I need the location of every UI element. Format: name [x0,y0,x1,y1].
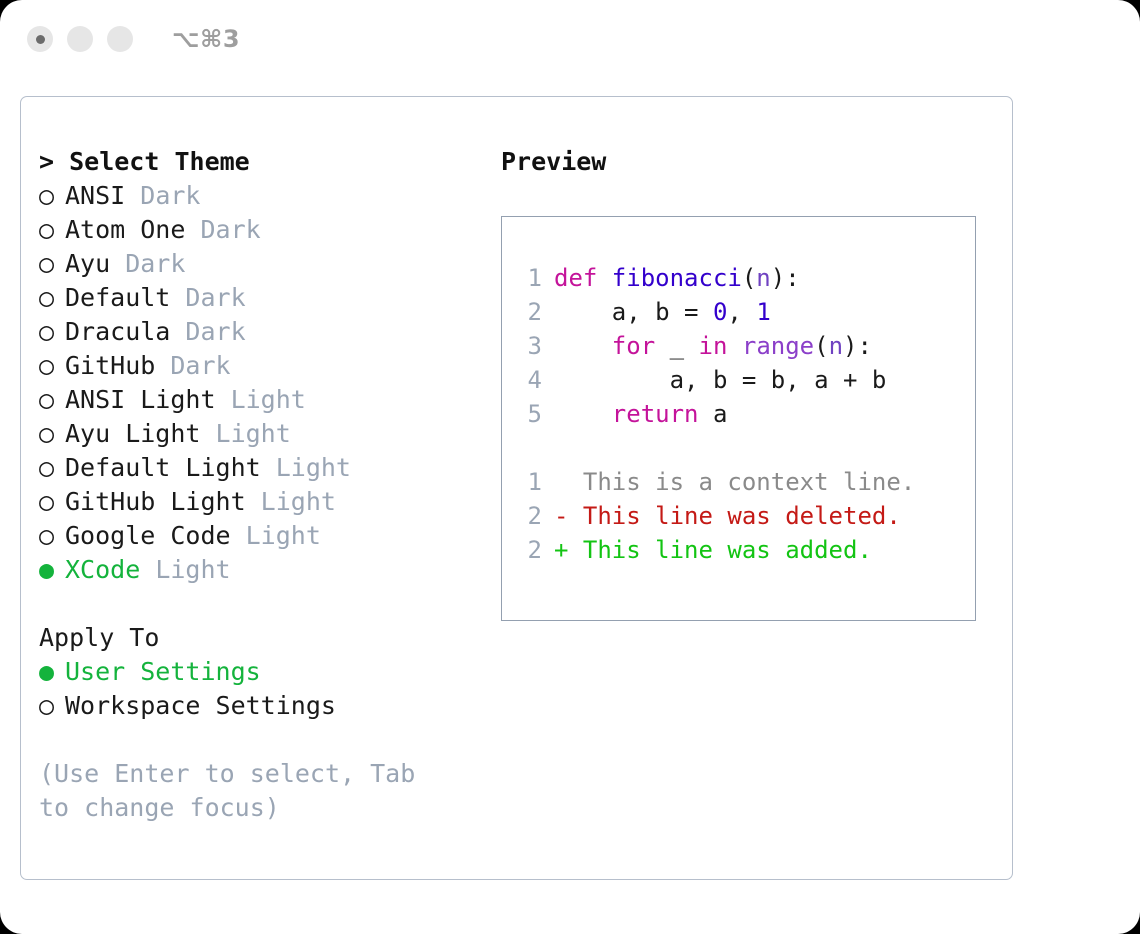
keyboard-hint-text: (Use Enter to select, Tab to change focu… [39,757,449,825]
code-diff-gap [520,431,975,465]
theme-variant-badge: Dark [155,351,230,380]
theme-option-ansi[interactable]: ○ANSI Dark [39,179,479,213]
window-dot-2[interactable] [67,26,93,52]
radio-unselected-icon: ○ [39,451,65,485]
diff-line: 2+ This line was added. [520,533,975,567]
code-token [554,332,612,360]
radio-selected-icon: ● [39,655,65,689]
diff-text: This line was added. [583,536,872,564]
window-dot-1[interactable] [27,26,53,52]
code-token: in [699,332,728,360]
apply-to-option-user-settings[interactable]: ●User Settings [39,655,479,689]
theme-variant-badge: Dark [170,317,245,346]
code-token: range [742,332,814,360]
code-token [727,332,741,360]
apply-to-option-label: User Settings [65,657,261,686]
main-panel: > Select Theme ○ANSI Dark○Atom One Dark○… [20,96,1013,880]
diff-text: This is a context line. [583,468,915,496]
select-theme-header: > Select Theme [39,145,479,179]
preview-column: Preview 1def fibonacci(n):2 a, b = 0, 13… [501,145,991,621]
theme-option-default[interactable]: ○Default Dark [39,281,479,315]
preview-box: 1def fibonacci(n):2 a, b = 0, 13 for _ i… [501,216,976,621]
code-token: _ [655,332,698,360]
code-line: 4 a, b = b, a + b [520,363,975,397]
line-number: 1 [520,261,542,295]
theme-variant-badge: Light [216,385,306,414]
code-token: return [612,400,699,428]
code-token: for [612,332,655,360]
diff-sign [554,468,583,496]
radio-unselected-icon: ○ [39,349,65,383]
theme-variant-badge: Light [231,521,321,550]
theme-list[interactable]: ○ANSI Dark○Atom One Dark○Ayu Dark○Defaul… [39,179,479,587]
code-token: fibonacci [612,264,742,292]
theme-option-ayu[interactable]: ○Ayu Dark [39,247,479,281]
theme-variant-badge: Light [246,487,336,516]
code-token: 0 [713,298,727,326]
theme-option-default-light[interactable]: ○Default Light Light [39,451,479,485]
theme-option-ansi-light[interactable]: ○ANSI Light Light [39,383,479,417]
line-number: 1 [520,465,542,499]
radio-unselected-icon: ○ [39,213,65,247]
radio-unselected-icon: ○ [39,281,65,315]
theme-variant-badge: Dark [170,283,245,312]
theme-option-label: ANSI Light [65,385,216,414]
diff-line: 1 This is a context line. [520,465,975,499]
code-token: def [554,264,612,292]
line-number: 3 [520,329,542,363]
theme-option-label: Default [65,283,170,312]
theme-option-label: Atom One [65,215,185,244]
code-line: 3 for _ in range(n): [520,329,975,363]
code-sample: 1def fibonacci(n):2 a, b = 0, 13 for _ i… [520,261,975,431]
apply-to-option-workspace-settings[interactable]: ○Workspace Settings [39,689,479,723]
theme-option-ayu-light[interactable]: ○Ayu Light Light [39,417,479,451]
line-number: 5 [520,397,542,431]
list-spacer [39,587,479,621]
diff-sign: + [554,536,583,564]
preview-title: Preview [501,145,991,179]
code-token: a, b = [554,298,713,326]
radio-unselected-icon: ○ [39,247,65,281]
theme-option-github[interactable]: ○GitHub Dark [39,349,479,383]
panel-columns: > Select Theme ○ANSI Dark○Atom One Dark○… [21,97,1012,879]
apply-to-option-label: Workspace Settings [65,691,336,720]
radio-unselected-icon: ○ [39,519,65,553]
title-bar: ⌥⌘3 [0,0,1140,78]
theme-selection-column: > Select Theme ○ANSI Dark○Atom One Dark○… [39,145,479,825]
theme-option-label: ANSI [65,181,125,210]
theme-variant-badge: Light [261,453,351,482]
theme-option-label: Dracula [65,317,170,346]
theme-variant-badge: Light [200,419,290,448]
theme-option-github-light[interactable]: ○GitHub Light Light [39,485,479,519]
app-window: ⌥⌘3 > Select Theme ○ANSI Dark○Atom One D… [0,0,1140,934]
code-token: ): [843,332,872,360]
code-line: 2 a, b = 0, 1 [520,295,975,329]
code-token: , [727,298,756,326]
radio-unselected-icon: ○ [39,485,65,519]
line-number: 2 [520,499,542,533]
radio-unselected-icon: ○ [39,315,65,349]
theme-variant-badge: Dark [125,181,200,210]
theme-variant-badge: Light [140,555,230,584]
code-token: a, b = b, a + b [554,366,886,394]
theme-option-google-code[interactable]: ○Google Code Light [39,519,479,553]
theme-option-label: XCode [65,555,140,584]
theme-option-dracula[interactable]: ○Dracula Dark [39,315,479,349]
theme-variant-badge: Dark [185,215,260,244]
line-number: 2 [520,533,542,567]
theme-option-atom-one[interactable]: ○Atom One Dark [39,213,479,247]
window-dot-3[interactable] [107,26,133,52]
theme-option-label: Default Light [65,453,261,482]
apply-to-list[interactable]: ●User Settings○Workspace Settings [39,655,479,723]
apply-to-header: Apply To [39,621,479,655]
theme-variant-badge: Dark [110,249,185,278]
radio-selected-icon: ● [39,553,65,587]
code-token [554,400,612,428]
code-token: a [699,400,728,428]
radio-unselected-icon: ○ [39,383,65,417]
diff-sign: - [554,502,583,530]
theme-option-label: GitHub [65,351,155,380]
theme-option-label: Ayu [65,249,110,278]
theme-option-xcode[interactable]: ●XCode Light [39,553,479,587]
radio-unselected-icon: ○ [39,689,65,723]
code-line: 5 return a [520,397,975,431]
diff-sample: 1 This is a context line.2- This line wa… [520,465,975,567]
code-token: 1 [756,298,770,326]
line-number: 4 [520,363,542,397]
theme-option-label: GitHub Light [65,487,246,516]
diff-text: This line was deleted. [583,502,901,530]
keyboard-shortcut-label: ⌥⌘3 [172,25,240,53]
radio-unselected-icon: ○ [39,179,65,213]
theme-option-label: Ayu Light [65,419,200,448]
theme-option-label: Google Code [65,521,231,550]
code-line: 1def fibonacci(n): [520,261,975,295]
code-token: n [829,332,843,360]
code-token: ( [742,264,756,292]
radio-unselected-icon: ○ [39,417,65,451]
code-token: ): [771,264,800,292]
window-dot-1-inner [36,35,45,44]
line-number: 2 [520,295,542,329]
code-token: n [756,264,770,292]
diff-line: 2- This line was deleted. [520,499,975,533]
code-token: ( [814,332,828,360]
